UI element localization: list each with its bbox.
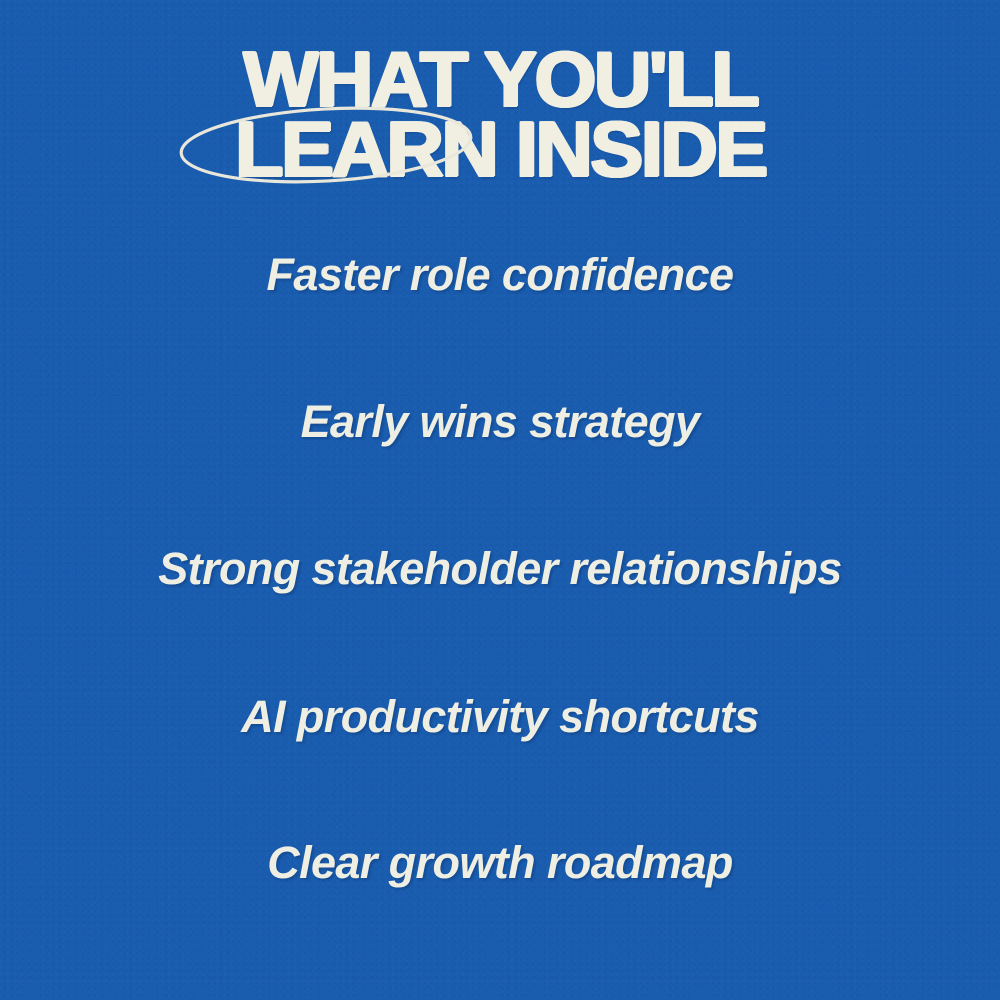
page-title: WHAT YOU'LL LEARN INSIDE	[0, 46, 1000, 184]
list-item: AI productivity shortcuts	[0, 692, 1000, 742]
slide-canvas: WHAT YOU'LL LEARN INSIDE Faster role con…	[0, 0, 1000, 1000]
headline-line-1: WHAT YOU'LL	[0, 46, 1000, 114]
headline-line-2: LEARN INSIDE	[0, 116, 1000, 184]
list-item: Clear growth roadmap	[0, 838, 1000, 888]
list-item: Faster role confidence	[0, 250, 1000, 300]
list-item: Strong stakeholder relationships	[0, 544, 1000, 594]
list-item: Early wins strategy	[0, 397, 1000, 447]
